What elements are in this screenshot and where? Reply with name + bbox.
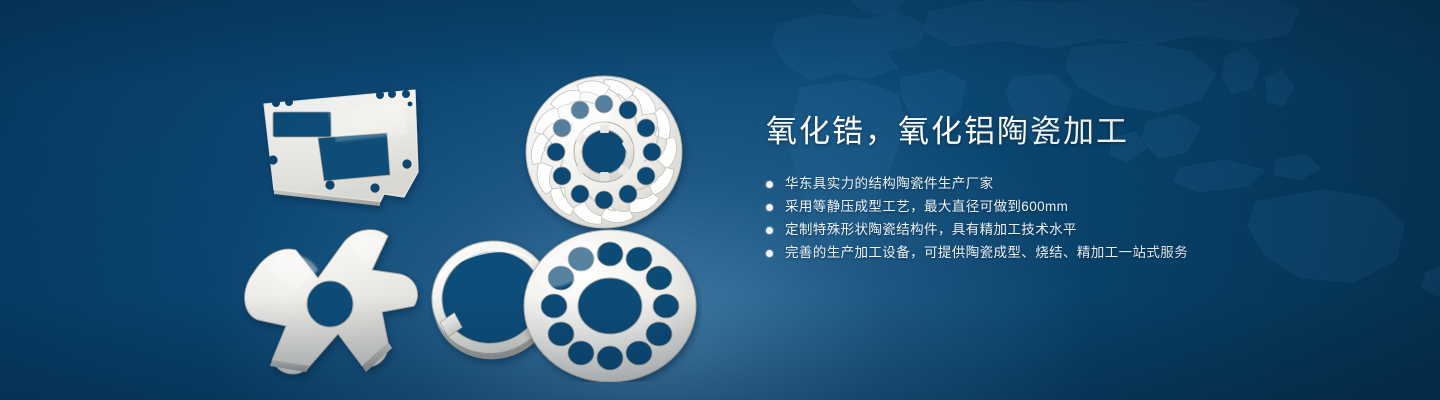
- page-title: 氧化锆，氧化铝陶瓷加工: [766, 112, 1326, 152]
- bullet-dot-icon: [766, 181, 773, 188]
- ceramic-plate-part: [264, 90, 418, 206]
- feature-list: 华东具实力的结构陶瓷件生产厂家 采用等静压成型工艺，最大直径可做到600mm 定…: [766, 173, 1326, 264]
- bullet-dot-icon: [766, 227, 773, 234]
- list-item: 采用等静压成型工艺，最大直径可做到600mm: [766, 196, 1326, 218]
- feature-text: 定制特殊形状陶瓷结构件，具有精加工技术水平: [785, 219, 1077, 241]
- feature-text: 采用等静压成型工艺，最大直径可做到600mm: [785, 196, 1068, 218]
- feature-text: 华东具实力的结构陶瓷件生产厂家: [785, 173, 994, 195]
- bullet-dot-icon: [766, 250, 773, 257]
- list-item: 定制特殊形状陶瓷结构件，具有精加工技术水平: [766, 219, 1326, 241]
- list-item: 华东具实力的结构陶瓷件生产厂家: [766, 173, 1326, 195]
- list-item: 完善的生产加工设备，可提供陶瓷成型、烧结、精加工一站式服务: [766, 242, 1326, 264]
- promo-banner: 氧化锆，氧化铝陶瓷加工 华东具实力的结构陶瓷件生产厂家 采用等静压成型工艺，最大…: [0, 0, 1440, 400]
- feature-text: 完善的生产加工设备，可提供陶瓷成型、烧结、精加工一站式服务: [785, 242, 1188, 264]
- banner-copy: 氧化锆，氧化铝陶瓷加工 华东具实力的结构陶瓷件生产厂家 采用等静压成型工艺，最大…: [766, 112, 1326, 264]
- ceramic-cross-part: [245, 230, 418, 374]
- ceramic-perforated-disc-part: [524, 230, 696, 382]
- bullet-dot-icon: [766, 204, 773, 211]
- ceramic-impeller-part: [526, 74, 682, 231]
- product-photo-cluster: [232, 42, 702, 382]
